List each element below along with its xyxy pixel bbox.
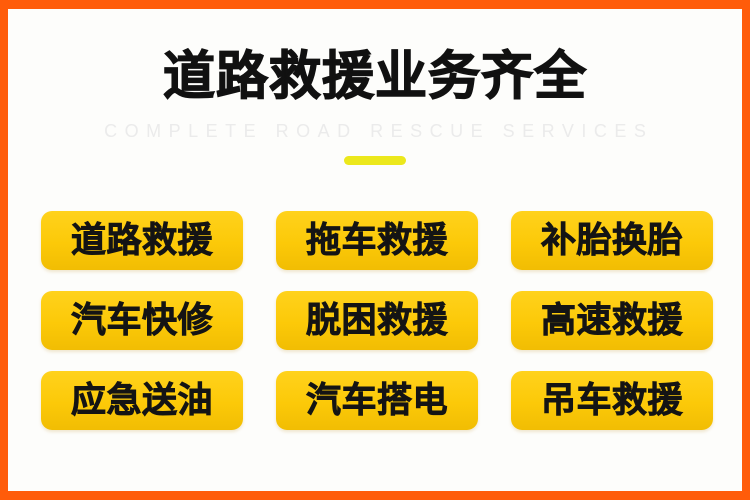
service-button-9[interactable]: 吊车救援 bbox=[511, 371, 713, 430]
page-title: 道路救援业务齐全 bbox=[8, 51, 742, 103]
service-label: 脱困救援 bbox=[306, 302, 448, 340]
service-label: 高速救援 bbox=[541, 302, 683, 340]
service-button-2[interactable]: 拖车救援 bbox=[276, 211, 478, 270]
service-button-4[interactable]: 汽车快修 bbox=[41, 291, 243, 350]
service-label: 应急送油 bbox=[71, 382, 213, 420]
service-button-5[interactable]: 脱困救援 bbox=[276, 291, 478, 350]
service-button-1[interactable]: 道路救援 bbox=[41, 211, 243, 270]
service-label: 汽车快修 bbox=[71, 302, 213, 340]
service-label: 补胎换胎 bbox=[541, 222, 683, 260]
service-button-3[interactable]: 补胎换胎 bbox=[511, 211, 713, 270]
services-grid: 道路救援 拖车救援 补胎换胎 汽车快修 脱困救援 高速救援 应急送油 汽车搭电 bbox=[41, 211, 713, 430]
page-subtitle: COMPLETE ROAD RESCUE SERVICES bbox=[8, 121, 742, 141]
service-label: 汽车搭电 bbox=[306, 382, 448, 420]
service-label: 道路救援 bbox=[71, 222, 213, 260]
service-button-6[interactable]: 高速救援 bbox=[511, 291, 713, 350]
service-button-7[interactable]: 应急送油 bbox=[41, 371, 243, 430]
service-label: 拖车救援 bbox=[306, 222, 448, 260]
poster-root: 道路救援业务齐全 COMPLETE ROAD RESCUE SERVICES 道… bbox=[0, 0, 750, 500]
accent-underline bbox=[344, 156, 406, 165]
poster-canvas: 道路救援业务齐全 COMPLETE ROAD RESCUE SERVICES 道… bbox=[8, 9, 742, 491]
service-button-8[interactable]: 汽车搭电 bbox=[276, 371, 478, 430]
service-label: 吊车救援 bbox=[541, 382, 683, 420]
poster-header: 道路救援业务齐全 COMPLETE ROAD RESCUE SERVICES bbox=[8, 9, 742, 169]
